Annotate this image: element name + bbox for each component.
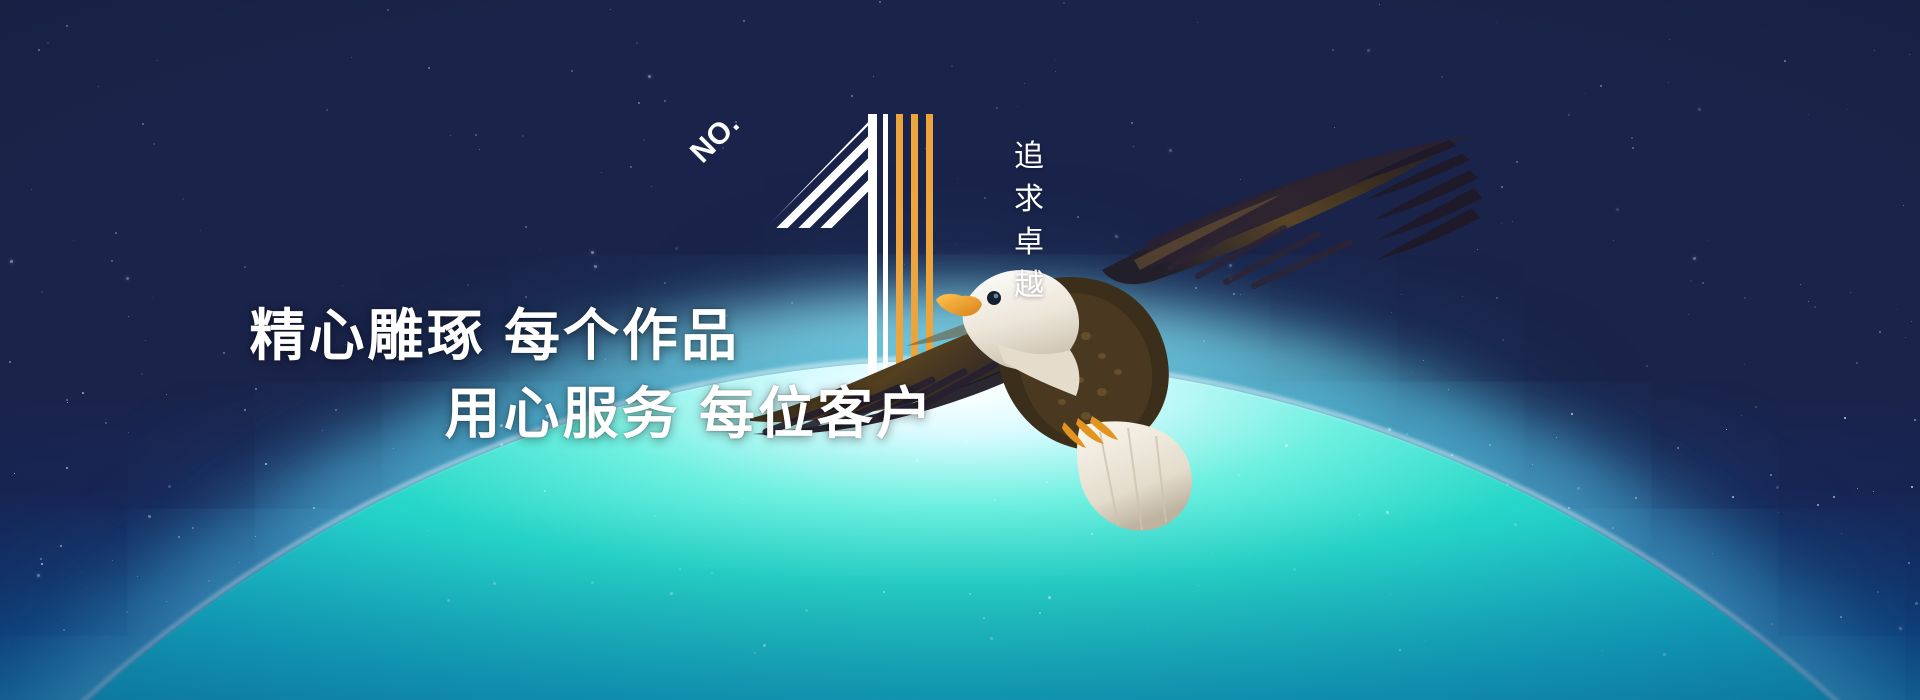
no1-logo: NO. xyxy=(690,100,1050,390)
logo-vertical-bars xyxy=(868,114,933,390)
vertical-slogan-char-0: 追 xyxy=(1014,142,1044,172)
hero-banner: NO. xyxy=(0,0,1920,700)
vertical-slogan-char-3: 越 xyxy=(1014,271,1044,301)
vertical-slogan: 追 求 卓 越 xyxy=(1006,142,1052,301)
vertical-slogan-char-2: 卓 xyxy=(1014,228,1044,258)
vertical-slogan-char-1: 求 xyxy=(1014,185,1044,215)
